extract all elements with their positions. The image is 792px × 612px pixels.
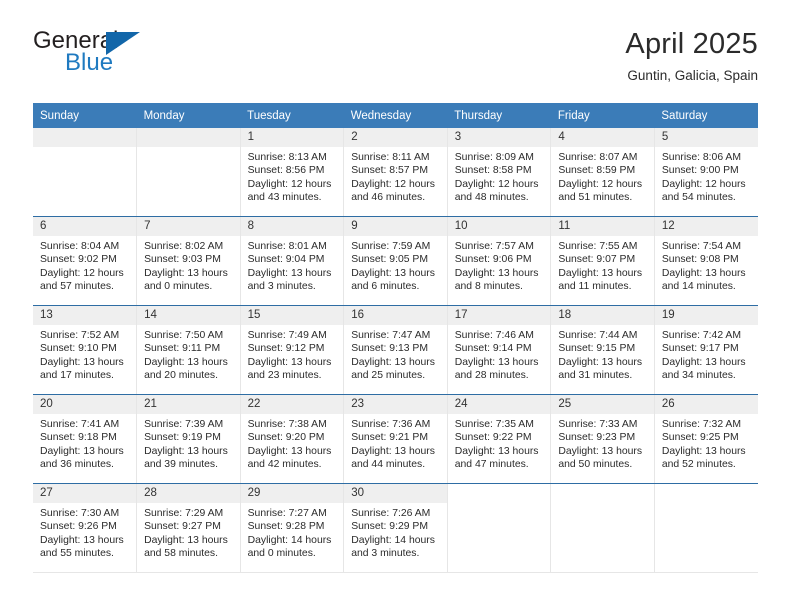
sunset-text: Sunset: 9:25 PM (662, 431, 752, 444)
day-number: 8 (241, 217, 344, 236)
daylight-text-line1: Daylight: 13 hours (351, 356, 441, 369)
day-cell-content: 19Sunrise: 7:42 AMSunset: 9:17 PMDayligh… (655, 306, 758, 394)
sunrise-text: Sunrise: 7:46 AM (455, 329, 545, 342)
daylight-text-line1: Daylight: 13 hours (558, 356, 648, 369)
calendar-day-cell[interactable]: 29Sunrise: 7:27 AMSunset: 9:28 PMDayligh… (240, 484, 344, 573)
sunset-text: Sunset: 8:57 PM (351, 164, 441, 177)
day-number: 7 (137, 217, 240, 236)
day-number: 14 (137, 306, 240, 325)
daylight-text-line2: and 43 minutes. (248, 191, 338, 204)
calendar-day-cell[interactable]: 9Sunrise: 7:59 AMSunset: 9:05 PMDaylight… (344, 217, 448, 306)
sunset-text: Sunset: 9:17 PM (662, 342, 752, 355)
calendar-day-cell[interactable]: 16Sunrise: 7:47 AMSunset: 9:13 PMDayligh… (344, 306, 448, 395)
daylight-text-line2: and 0 minutes. (144, 280, 234, 293)
calendar-week-row: 1Sunrise: 8:13 AMSunset: 8:56 PMDaylight… (33, 128, 758, 217)
daylight-text-line2: and 42 minutes. (248, 458, 338, 471)
day-cell-content: 25Sunrise: 7:33 AMSunset: 9:23 PMDayligh… (551, 395, 654, 483)
weekday-saturday: Saturday (654, 103, 758, 128)
calendar-day-cell[interactable]: 3Sunrise: 8:09 AMSunset: 8:58 PMDaylight… (447, 128, 551, 217)
sunrise-text: Sunrise: 7:47 AM (351, 329, 441, 342)
daylight-text-line2: and 54 minutes. (662, 191, 752, 204)
day-cell-content: 23Sunrise: 7:36 AMSunset: 9:21 PMDayligh… (344, 395, 447, 483)
day-cell-content: 1Sunrise: 8:13 AMSunset: 8:56 PMDaylight… (241, 128, 344, 216)
day-details: Sunrise: 7:47 AMSunset: 9:13 PMDaylight:… (344, 325, 447, 383)
day-cell-content (137, 128, 240, 216)
calendar-day-cell[interactable]: 25Sunrise: 7:33 AMSunset: 9:23 PMDayligh… (551, 395, 655, 484)
daylight-text-line2: and 17 minutes. (40, 369, 130, 382)
calendar-page: General Blue April 2025 Guntin, Galicia,… (0, 0, 792, 612)
daylight-text-line2: and 50 minutes. (558, 458, 648, 471)
sunset-text: Sunset: 9:10 PM (40, 342, 130, 355)
day-number: 26 (655, 395, 758, 414)
sunrise-text: Sunrise: 7:59 AM (351, 240, 441, 253)
sunrise-text: Sunrise: 7:33 AM (558, 418, 648, 431)
day-number: 6 (33, 217, 136, 236)
sunrise-text: Sunrise: 7:42 AM (662, 329, 752, 342)
sunrise-text: Sunrise: 7:35 AM (455, 418, 545, 431)
sunrise-text: Sunrise: 7:27 AM (248, 507, 338, 520)
day-number: 15 (241, 306, 344, 325)
day-cell-content: 4Sunrise: 8:07 AMSunset: 8:59 PMDaylight… (551, 128, 654, 216)
day-details: Sunrise: 8:13 AMSunset: 8:56 PMDaylight:… (241, 147, 344, 205)
day-number: 17 (448, 306, 551, 325)
day-details: Sunrise: 8:07 AMSunset: 8:59 PMDaylight:… (551, 147, 654, 205)
day-details: Sunrise: 7:38 AMSunset: 9:20 PMDaylight:… (241, 414, 344, 472)
daylight-text-line2: and 25 minutes. (351, 369, 441, 382)
sunset-text: Sunset: 9:06 PM (455, 253, 545, 266)
calendar-day-cell[interactable]: 6Sunrise: 8:04 AMSunset: 9:02 PMDaylight… (33, 217, 137, 306)
weekday-tuesday: Tuesday (240, 103, 344, 128)
sunset-text: Sunset: 9:27 PM (144, 520, 234, 533)
day-number: 27 (33, 484, 136, 503)
sunset-text: Sunset: 9:18 PM (40, 431, 130, 444)
sunrise-text: Sunrise: 7:36 AM (351, 418, 441, 431)
daylight-text-line2: and 3 minutes. (248, 280, 338, 293)
day-number: 21 (137, 395, 240, 414)
daylight-text-line2: and 46 minutes. (351, 191, 441, 204)
day-cell-content: 12Sunrise: 7:54 AMSunset: 9:08 PMDayligh… (655, 217, 758, 305)
daylight-text-line1: Daylight: 13 hours (144, 267, 234, 280)
day-cell-content: 28Sunrise: 7:29 AMSunset: 9:27 PMDayligh… (137, 484, 240, 572)
sunrise-text: Sunrise: 7:32 AM (662, 418, 752, 431)
calendar-day-cell[interactable]: 24Sunrise: 7:35 AMSunset: 9:22 PMDayligh… (447, 395, 551, 484)
day-details: Sunrise: 8:09 AMSunset: 8:58 PMDaylight:… (448, 147, 551, 205)
daylight-text-line1: Daylight: 12 hours (40, 267, 130, 280)
sunrise-text: Sunrise: 7:29 AM (144, 507, 234, 520)
sunrise-text: Sunrise: 7:54 AM (662, 240, 752, 253)
day-details: Sunrise: 7:46 AMSunset: 9:14 PMDaylight:… (448, 325, 551, 383)
sunrise-text: Sunrise: 7:44 AM (558, 329, 648, 342)
day-details: Sunrise: 7:57 AMSunset: 9:06 PMDaylight:… (448, 236, 551, 294)
day-details: Sunrise: 7:36 AMSunset: 9:21 PMDaylight:… (344, 414, 447, 472)
day-details: Sunrise: 8:02 AMSunset: 9:03 PMDaylight:… (137, 236, 240, 294)
calendar-day-cell[interactable]: 1Sunrise: 8:13 AMSunset: 8:56 PMDaylight… (240, 128, 344, 217)
sunset-text: Sunset: 9:13 PM (351, 342, 441, 355)
daylight-text-line2: and 23 minutes. (248, 369, 338, 382)
sunrise-text: Sunrise: 8:07 AM (558, 151, 648, 164)
daylight-text-line2: and 51 minutes. (558, 191, 648, 204)
sunrise-text: Sunrise: 8:11 AM (351, 151, 441, 164)
daylight-text-line1: Daylight: 13 hours (144, 445, 234, 458)
day-details: Sunrise: 8:06 AMSunset: 9:00 PMDaylight:… (655, 147, 758, 205)
daylight-text-line2: and 14 minutes. (662, 280, 752, 293)
sunrise-text: Sunrise: 7:49 AM (248, 329, 338, 342)
calendar-day-cell[interactable]: 21Sunrise: 7:39 AMSunset: 9:19 PMDayligh… (137, 395, 241, 484)
daylight-text-line1: Daylight: 12 hours (662, 178, 752, 191)
day-cell-content: 6Sunrise: 8:04 AMSunset: 9:02 PMDaylight… (33, 217, 136, 305)
sunrise-text: Sunrise: 8:09 AM (455, 151, 545, 164)
daylight-text-line1: Daylight: 13 hours (40, 445, 130, 458)
day-cell-content: 7Sunrise: 8:02 AMSunset: 9:03 PMDaylight… (137, 217, 240, 305)
daylight-text-line1: Daylight: 13 hours (662, 445, 752, 458)
calendar-grid: Sunday Monday Tuesday Wednesday Thursday… (33, 103, 758, 573)
day-cell-content: 21Sunrise: 7:39 AMSunset: 9:19 PMDayligh… (137, 395, 240, 483)
day-number (137, 128, 240, 147)
sunset-text: Sunset: 9:04 PM (248, 253, 338, 266)
sunset-text: Sunset: 9:23 PM (558, 431, 648, 444)
calendar-day-cell[interactable]: 12Sunrise: 7:54 AMSunset: 9:08 PMDayligh… (654, 217, 758, 306)
sunset-text: Sunset: 9:20 PM (248, 431, 338, 444)
sunrise-text: Sunrise: 8:13 AM (248, 151, 338, 164)
day-details: Sunrise: 8:01 AMSunset: 9:04 PMDaylight:… (241, 236, 344, 294)
day-number: 23 (344, 395, 447, 414)
calendar-day-cell[interactable]: 5Sunrise: 8:06 AMSunset: 9:00 PMDaylight… (654, 128, 758, 217)
sunrise-text: Sunrise: 7:30 AM (40, 507, 130, 520)
sunrise-text: Sunrise: 7:26 AM (351, 507, 441, 520)
sunset-text: Sunset: 9:07 PM (558, 253, 648, 266)
day-details: Sunrise: 7:52 AMSunset: 9:10 PMDaylight:… (33, 325, 136, 383)
calendar-day-cell[interactable]: 20Sunrise: 7:41 AMSunset: 9:18 PMDayligh… (33, 395, 137, 484)
daylight-text-line1: Daylight: 13 hours (558, 267, 648, 280)
day-details: Sunrise: 7:42 AMSunset: 9:17 PMDaylight:… (655, 325, 758, 383)
sunrise-text: Sunrise: 7:52 AM (40, 329, 130, 342)
day-number: 28 (137, 484, 240, 503)
page-header: General Blue April 2025 Guntin, Galicia,… (33, 27, 758, 91)
day-cell-content: 20Sunrise: 7:41 AMSunset: 9:18 PMDayligh… (33, 395, 136, 483)
day-cell-content: 2Sunrise: 8:11 AMSunset: 8:57 PMDaylight… (344, 128, 447, 216)
day-details: Sunrise: 7:49 AMSunset: 9:12 PMDaylight:… (241, 325, 344, 383)
day-number: 2 (344, 128, 447, 147)
day-number: 18 (551, 306, 654, 325)
day-number: 22 (241, 395, 344, 414)
calendar-day-cell[interactable]: 23Sunrise: 7:36 AMSunset: 9:21 PMDayligh… (344, 395, 448, 484)
day-number (33, 128, 136, 147)
day-cell-content: 8Sunrise: 8:01 AMSunset: 9:04 PMDaylight… (241, 217, 344, 305)
calendar-week-row: 20Sunrise: 7:41 AMSunset: 9:18 PMDayligh… (33, 395, 758, 484)
sunset-text: Sunset: 9:02 PM (40, 253, 130, 266)
sunset-text: Sunset: 9:00 PM (662, 164, 752, 177)
sunset-text: Sunset: 9:15 PM (558, 342, 648, 355)
daylight-text-line2: and 34 minutes. (662, 369, 752, 382)
day-cell-content: 22Sunrise: 7:38 AMSunset: 9:20 PMDayligh… (241, 395, 344, 483)
day-number: 10 (448, 217, 551, 236)
calendar-body: 1Sunrise: 8:13 AMSunset: 8:56 PMDaylight… (33, 128, 758, 573)
day-number: 9 (344, 217, 447, 236)
sunset-text: Sunset: 9:21 PM (351, 431, 441, 444)
daylight-text-line2: and 0 minutes. (248, 547, 338, 560)
logo-text-blue: Blue (65, 49, 113, 77)
daylight-text-line1: Daylight: 12 hours (248, 178, 338, 191)
daylight-text-line2: and 48 minutes. (455, 191, 545, 204)
day-cell-content: 14Sunrise: 7:50 AMSunset: 9:11 PMDayligh… (137, 306, 240, 394)
daylight-text-line2: and 52 minutes. (662, 458, 752, 471)
calendar-day-cell[interactable]: 10Sunrise: 7:57 AMSunset: 9:06 PMDayligh… (447, 217, 551, 306)
sunrise-text: Sunrise: 7:50 AM (144, 329, 234, 342)
sunrise-text: Sunrise: 7:38 AM (248, 418, 338, 431)
day-number: 1 (241, 128, 344, 147)
daylight-text-line1: Daylight: 13 hours (40, 356, 130, 369)
day-number: 11 (551, 217, 654, 236)
day-details: Sunrise: 7:44 AMSunset: 9:15 PMDaylight:… (551, 325, 654, 383)
sunrise-text: Sunrise: 8:02 AM (144, 240, 234, 253)
day-details: Sunrise: 7:33 AMSunset: 9:23 PMDaylight:… (551, 414, 654, 472)
daylight-text-line1: Daylight: 13 hours (144, 534, 234, 547)
day-cell-content: 9Sunrise: 7:59 AMSunset: 9:05 PMDaylight… (344, 217, 447, 305)
calendar-day-cell[interactable]: 8Sunrise: 8:01 AMSunset: 9:04 PMDaylight… (240, 217, 344, 306)
day-number: 20 (33, 395, 136, 414)
calendar-day-cell[interactable]: 22Sunrise: 7:38 AMSunset: 9:20 PMDayligh… (240, 395, 344, 484)
general-blue-logo[interactable]: General Blue (33, 27, 233, 87)
daylight-text-line1: Daylight: 13 hours (40, 534, 130, 547)
day-cell-content: 26Sunrise: 7:32 AMSunset: 9:25 PMDayligh… (655, 395, 758, 483)
daylight-text-line1: Daylight: 13 hours (351, 267, 441, 280)
daylight-text-line2: and 39 minutes. (144, 458, 234, 471)
daylight-text-line1: Daylight: 12 hours (558, 178, 648, 191)
day-details: Sunrise: 7:55 AMSunset: 9:07 PMDaylight:… (551, 236, 654, 294)
day-number: 30 (344, 484, 447, 503)
calendar-day-cell[interactable]: 28Sunrise: 7:29 AMSunset: 9:27 PMDayligh… (137, 484, 241, 573)
day-details: Sunrise: 7:41 AMSunset: 9:18 PMDaylight:… (33, 414, 136, 472)
calendar-empty-cell (551, 484, 655, 573)
weekday-thursday: Thursday (447, 103, 551, 128)
day-number: 5 (655, 128, 758, 147)
sunset-text: Sunset: 9:29 PM (351, 520, 441, 533)
daylight-text-line1: Daylight: 13 hours (455, 356, 545, 369)
page-title: April 2025 (338, 27, 758, 61)
daylight-text-line2: and 20 minutes. (144, 369, 234, 382)
daylight-text-line1: Daylight: 13 hours (558, 445, 648, 458)
day-cell-content: 18Sunrise: 7:44 AMSunset: 9:15 PMDayligh… (551, 306, 654, 394)
day-details: Sunrise: 8:11 AMSunset: 8:57 PMDaylight:… (344, 147, 447, 205)
day-cell-content: 3Sunrise: 8:09 AMSunset: 8:58 PMDaylight… (448, 128, 551, 216)
day-number: 16 (344, 306, 447, 325)
sunset-text: Sunset: 9:11 PM (144, 342, 234, 355)
day-details: Sunrise: 7:59 AMSunset: 9:05 PMDaylight:… (344, 236, 447, 294)
calendar-day-cell[interactable]: 4Sunrise: 8:07 AMSunset: 8:59 PMDaylight… (551, 128, 655, 217)
day-number: 3 (448, 128, 551, 147)
daylight-text-line1: Daylight: 14 hours (248, 534, 338, 547)
sunset-text: Sunset: 9:26 PM (40, 520, 130, 533)
day-cell-content: 30Sunrise: 7:26 AMSunset: 9:29 PMDayligh… (344, 484, 447, 572)
sunrise-text: Sunrise: 8:01 AM (248, 240, 338, 253)
day-number: 25 (551, 395, 654, 414)
day-number: 13 (33, 306, 136, 325)
day-number: 24 (448, 395, 551, 414)
daylight-text-line1: Daylight: 14 hours (351, 534, 441, 547)
weekday-sunday: Sunday (33, 103, 137, 128)
calendar-day-cell[interactable]: 14Sunrise: 7:50 AMSunset: 9:11 PMDayligh… (137, 306, 241, 395)
day-cell-content: 5Sunrise: 8:06 AMSunset: 9:00 PMDaylight… (655, 128, 758, 216)
daylight-text-line1: Daylight: 13 hours (248, 356, 338, 369)
sunset-text: Sunset: 9:03 PM (144, 253, 234, 266)
day-cell-content (33, 128, 136, 216)
location-subtitle: Guntin, Galicia, Spain (338, 66, 758, 86)
daylight-text-line2: and 36 minutes. (40, 458, 130, 471)
day-number: 29 (241, 484, 344, 503)
day-cell-content (655, 484, 758, 572)
day-details: Sunrise: 7:32 AMSunset: 9:25 PMDaylight:… (655, 414, 758, 472)
sunset-text: Sunset: 9:14 PM (455, 342, 545, 355)
daylight-text-line2: and 57 minutes. (40, 280, 130, 293)
calendar-week-row: 27Sunrise: 7:30 AMSunset: 9:26 PMDayligh… (33, 484, 758, 573)
day-details: Sunrise: 8:04 AMSunset: 9:02 PMDaylight:… (33, 236, 136, 294)
daylight-text-line1: Daylight: 13 hours (662, 356, 752, 369)
sunset-text: Sunset: 8:58 PM (455, 164, 545, 177)
daylight-text-line1: Daylight: 13 hours (455, 445, 545, 458)
day-cell-content: 11Sunrise: 7:55 AMSunset: 9:07 PMDayligh… (551, 217, 654, 305)
calendar-empty-cell (137, 128, 241, 217)
daylight-text-line1: Daylight: 13 hours (248, 267, 338, 280)
calendar-empty-cell (654, 484, 758, 573)
sunset-text: Sunset: 8:56 PM (248, 164, 338, 177)
day-details: Sunrise: 7:26 AMSunset: 9:29 PMDaylight:… (344, 503, 447, 561)
day-cell-content: 17Sunrise: 7:46 AMSunset: 9:14 PMDayligh… (448, 306, 551, 394)
sunrise-text: Sunrise: 7:55 AM (558, 240, 648, 253)
daylight-text-line2: and 55 minutes. (40, 547, 130, 560)
calendar-empty-cell (33, 128, 137, 217)
daylight-text-line2: and 31 minutes. (558, 369, 648, 382)
weekday-wednesday: Wednesday (344, 103, 448, 128)
sunrise-text: Sunrise: 8:06 AM (662, 151, 752, 164)
day-details: Sunrise: 7:29 AMSunset: 9:27 PMDaylight:… (137, 503, 240, 561)
sunset-text: Sunset: 8:59 PM (558, 164, 648, 177)
weekday-header-row: Sunday Monday Tuesday Wednesday Thursday… (33, 103, 758, 128)
day-details: Sunrise: 7:39 AMSunset: 9:19 PMDaylight:… (137, 414, 240, 472)
daylight-text-line2: and 44 minutes. (351, 458, 441, 471)
calendar-day-cell[interactable]: 13Sunrise: 7:52 AMSunset: 9:10 PMDayligh… (33, 306, 137, 395)
calendar-day-cell[interactable]: 11Sunrise: 7:55 AMSunset: 9:07 PMDayligh… (551, 217, 655, 306)
weekday-monday: Monday (137, 103, 241, 128)
calendar-day-cell[interactable]: 27Sunrise: 7:30 AMSunset: 9:26 PMDayligh… (33, 484, 137, 573)
day-cell-content: 15Sunrise: 7:49 AMSunset: 9:12 PMDayligh… (241, 306, 344, 394)
daylight-text-line2: and 11 minutes. (558, 280, 648, 293)
daylight-text-line2: and 28 minutes. (455, 369, 545, 382)
calendar-day-cell[interactable]: 19Sunrise: 7:42 AMSunset: 9:17 PMDayligh… (654, 306, 758, 395)
calendar-week-row: 13Sunrise: 7:52 AMSunset: 9:10 PMDayligh… (33, 306, 758, 395)
daylight-text-line1: Daylight: 12 hours (455, 178, 545, 191)
day-cell-content: 29Sunrise: 7:27 AMSunset: 9:28 PMDayligh… (241, 484, 344, 572)
day-details: Sunrise: 7:35 AMSunset: 9:22 PMDaylight:… (448, 414, 551, 472)
day-number: 12 (655, 217, 758, 236)
sunset-text: Sunset: 9:12 PM (248, 342, 338, 355)
sunrise-text: Sunrise: 8:04 AM (40, 240, 130, 253)
calendar-day-cell[interactable]: 30Sunrise: 7:26 AMSunset: 9:29 PMDayligh… (344, 484, 448, 573)
day-cell-content (448, 484, 551, 572)
day-cell-content: 24Sunrise: 7:35 AMSunset: 9:22 PMDayligh… (448, 395, 551, 483)
daylight-text-line1: Daylight: 13 hours (662, 267, 752, 280)
day-cell-content: 13Sunrise: 7:52 AMSunset: 9:10 PMDayligh… (33, 306, 136, 394)
title-block: April 2025 Guntin, Galicia, Spain (338, 27, 758, 86)
day-cell-content (551, 484, 654, 572)
calendar-empty-cell (447, 484, 551, 573)
sunset-text: Sunset: 9:22 PM (455, 431, 545, 444)
daylight-text-line1: Daylight: 13 hours (351, 445, 441, 458)
sunset-text: Sunset: 9:19 PM (144, 431, 234, 444)
sunrise-text: Sunrise: 7:57 AM (455, 240, 545, 253)
daylight-text-line2: and 3 minutes. (351, 547, 441, 560)
sunset-text: Sunset: 9:08 PM (662, 253, 752, 266)
calendar-day-cell[interactable]: 17Sunrise: 7:46 AMSunset: 9:14 PMDayligh… (447, 306, 551, 395)
day-details: Sunrise: 7:30 AMSunset: 9:26 PMDaylight:… (33, 503, 136, 561)
calendar-day-cell[interactable]: 18Sunrise: 7:44 AMSunset: 9:15 PMDayligh… (551, 306, 655, 395)
day-cell-content: 10Sunrise: 7:57 AMSunset: 9:06 PMDayligh… (448, 217, 551, 305)
calendar-day-cell[interactable]: 15Sunrise: 7:49 AMSunset: 9:12 PMDayligh… (240, 306, 344, 395)
day-details: Sunrise: 7:50 AMSunset: 9:11 PMDaylight:… (137, 325, 240, 383)
day-details (137, 147, 240, 151)
daylight-text-line2: and 6 minutes. (351, 280, 441, 293)
day-details: Sunrise: 7:54 AMSunset: 9:08 PMDaylight:… (655, 236, 758, 294)
day-details: Sunrise: 7:27 AMSunset: 9:28 PMDaylight:… (241, 503, 344, 561)
daylight-text-line2: and 8 minutes. (455, 280, 545, 293)
sunset-text: Sunset: 9:28 PM (248, 520, 338, 533)
daylight-text-line1: Daylight: 12 hours (351, 178, 441, 191)
sunrise-text: Sunrise: 7:41 AM (40, 418, 130, 431)
sunrise-text: Sunrise: 7:39 AM (144, 418, 234, 431)
calendar-day-cell[interactable]: 7Sunrise: 8:02 AMSunset: 9:03 PMDaylight… (137, 217, 241, 306)
day-number: 4 (551, 128, 654, 147)
day-cell-content: 27Sunrise: 7:30 AMSunset: 9:26 PMDayligh… (33, 484, 136, 572)
daylight-text-line1: Daylight: 13 hours (248, 445, 338, 458)
weekday-friday: Friday (551, 103, 655, 128)
day-details (33, 147, 136, 151)
day-number: 19 (655, 306, 758, 325)
daylight-text-line1: Daylight: 13 hours (455, 267, 545, 280)
daylight-text-line2: and 47 minutes. (455, 458, 545, 471)
calendar-day-cell[interactable]: 26Sunrise: 7:32 AMSunset: 9:25 PMDayligh… (654, 395, 758, 484)
day-cell-content: 16Sunrise: 7:47 AMSunset: 9:13 PMDayligh… (344, 306, 447, 394)
daylight-text-line2: and 58 minutes. (144, 547, 234, 560)
sunset-text: Sunset: 9:05 PM (351, 253, 441, 266)
calendar-week-row: 6Sunrise: 8:04 AMSunset: 9:02 PMDaylight… (33, 217, 758, 306)
calendar-day-cell[interactable]: 2Sunrise: 8:11 AMSunset: 8:57 PMDaylight… (344, 128, 448, 217)
daylight-text-line1: Daylight: 13 hours (144, 356, 234, 369)
